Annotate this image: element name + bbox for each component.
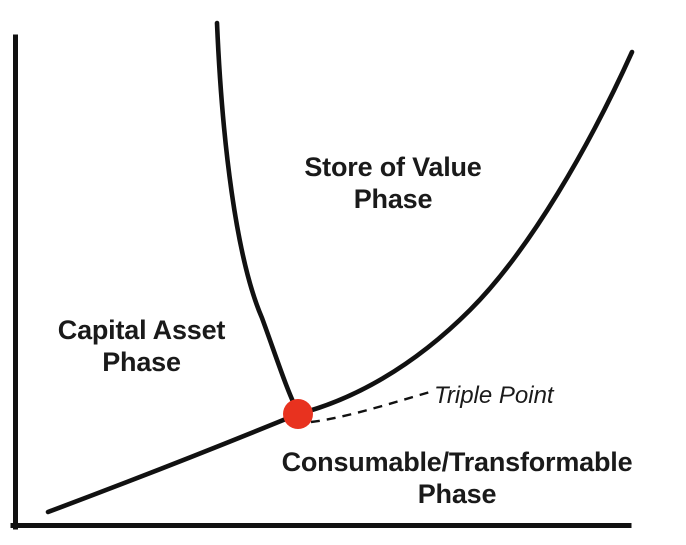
capital-asset-phase-label: Capital Asset Phase	[14, 315, 269, 379]
phase-diagram-figure: Store of Value Phase Capital Asset Phase…	[0, 0, 686, 545]
store-of-value-phase-label: Store of Value Phase	[248, 152, 538, 216]
triple-point-leader-line	[311, 392, 430, 422]
curve-store-of-value-consumable	[298, 52, 632, 414]
triple-point-marker[interactable]	[283, 399, 313, 429]
triple-point-label: Triple Point	[434, 382, 554, 410]
consumable-transformable-phase-label: Consumable/Transformable Phase	[228, 447, 686, 511]
